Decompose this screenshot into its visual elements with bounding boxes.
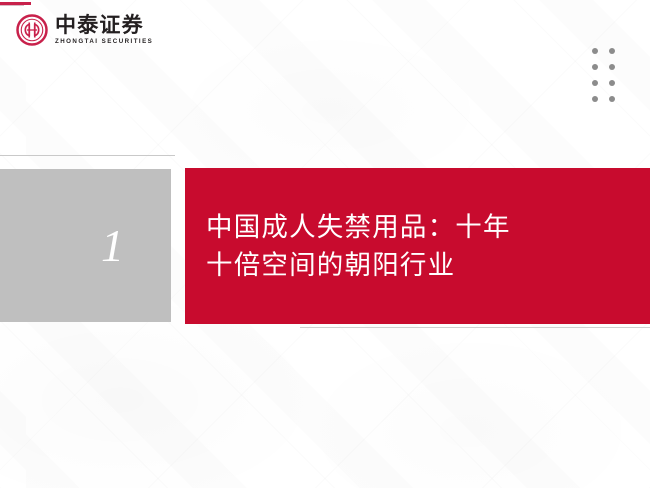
section-title: 中国成人失禁用品：十年 十倍空间的朝阳行业 [206,209,606,284]
dot [592,80,598,86]
section-title-banner: 中国成人失禁用品：十年 十倍空间的朝阳行业 [185,168,650,324]
dot-grid-icon [592,48,615,102]
dot [592,48,598,54]
brand-wordmark: 中泰证券 ZHONGTAI SECURITIES [55,15,153,45]
presentation-slide: 中泰证券 ZHONGTAI SECURITIES 1 中国成人失禁用品：十年 十… [0,0,650,488]
zhongtai-circle-logo-icon [16,14,48,46]
divider-above-section-card [0,155,175,156]
dot [592,64,598,70]
dot [592,96,598,102]
section-number: 1 [101,223,124,269]
brand-name-en: ZHONGTAI SECURITIES [55,39,153,45]
dot [609,64,615,70]
brand-logo[interactable]: 中泰证券 ZHONGTAI SECURITIES [16,14,153,46]
top-left-accent-rule-secondary [0,5,24,6]
brand-name-cn: 中泰证券 [55,15,153,36]
divider-below-section-banner [300,327,650,328]
section-number-card: 1 [0,169,171,322]
dot [609,48,615,54]
dot [609,96,615,102]
dot [609,80,615,86]
